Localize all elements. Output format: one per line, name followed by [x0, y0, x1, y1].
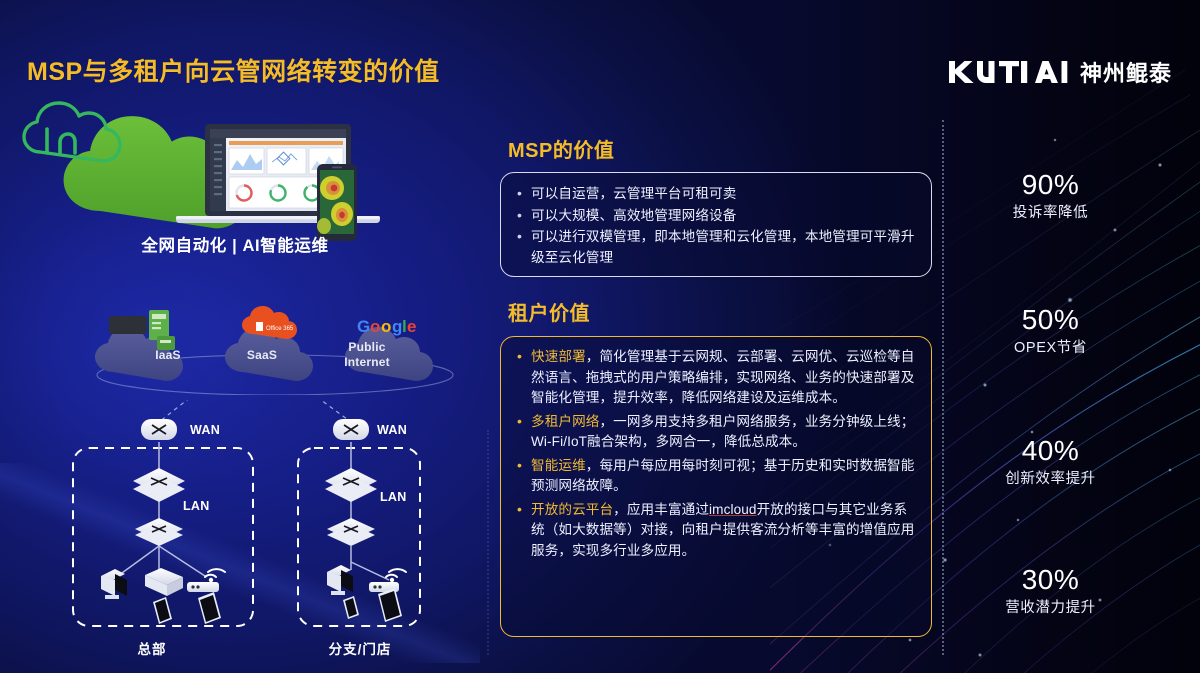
slide-root: MSP与多租户向云管网络转变的价值 神州鲲泰 [0, 0, 1200, 673]
tenant-text: ，简化管理基于云网规、云部署、云网优、云巡检等自然语言、拖拽式的用户策略编排，实… [531, 349, 914, 405]
msp-value-card: 可以自运营，云管理平台可租可卖 可以大规模、高效地管理网络设备 可以进行双模管理… [500, 172, 932, 277]
branch-lan-switch [327, 518, 375, 546]
stat-label: 创新效率提升 [953, 468, 1148, 490]
list-item: 可以大规模、高效地管理网络设备 [514, 206, 918, 227]
cloud-label-saas: SaaS [222, 348, 302, 362]
branch-wan-label: WAN [377, 423, 407, 437]
stat-value: 40% [953, 434, 1148, 468]
vertical-dotted-divider-secondary [487, 430, 489, 655]
hq-server [145, 568, 183, 596]
msp-bullet-list: 可以自运营，云管理平台可租可卖 可以大规模、高效地管理网络设备 可以进行双模管理… [501, 173, 931, 268]
branch-lan-label: LAN [380, 490, 407, 504]
cloud-label-iaas: IaaS [128, 348, 208, 362]
cloud-label-public: Public [327, 340, 407, 354]
tenant-heading: 租户价值 [508, 297, 590, 326]
hq-wan-router [141, 419, 177, 440]
stat-label: 营收潜力提升 [953, 597, 1148, 619]
vertical-dotted-divider [942, 120, 944, 655]
hq-access-point [187, 569, 225, 592]
hq-pc [101, 569, 127, 599]
page-title: MSP与多租户向云管网络转变的价值 [27, 52, 440, 88]
stat-value: 90% [953, 168, 1148, 202]
list-item: 多租户网络，一网多用支持多租户网络服务，业务分钟级上线；Wi-Fi/IoT融合架… [514, 412, 918, 453]
tenant-keyword: 开放的云平台 [531, 502, 613, 517]
tenant-keyword: 多租户网络 [531, 414, 599, 429]
svg-text:o: o [381, 317, 391, 336]
tenant-value-card: 快速部署，简化管理基于云网规、云部署、云网优、云巡检等自然语言、拖拽式的用户策略… [500, 336, 932, 637]
stat-block-4: 30% 营收潜力提升 [953, 563, 1148, 619]
branch-tablets [343, 588, 402, 622]
brand-logo: 神州鲲泰 [947, 56, 1172, 88]
tenant-text: ，每用户每应用每时刻可视；基于历史和实时数据智能预测网络故障。 [531, 458, 914, 494]
stat-block-2: 50% OPEX节省 [953, 303, 1148, 359]
list-item: 可以自运营，云管理平台可租可卖 [514, 184, 918, 205]
tenant-keyword: 智能运维 [531, 458, 586, 473]
brand-name-cn: 神州鲲泰 [1080, 56, 1172, 88]
list-item: 快速部署，简化管理基于云网规、云部署、云网优、云巡检等自然语言、拖拽式的用户策略… [514, 347, 918, 409]
imcloud-link[interactable]: imcloud [709, 502, 757, 517]
hq-wan-label: WAN [190, 423, 220, 437]
list-item: 开放的云平台，应用丰富通过imcloud开放的接口与其它业务系统（如大数据等）对… [514, 500, 918, 562]
tenant-text-a: ，应用丰富通过 [613, 502, 709, 517]
site-label-branch: 分支/门店 [290, 638, 430, 658]
branch-pc [327, 565, 353, 595]
cloud-saas: Office 365 [225, 306, 313, 381]
kuntai-wordmark-icon [947, 59, 1069, 85]
tenant-bullet-list: 快速部署，简化管理基于云网规、云部署、云网优、云巡检等自然语言、拖拽式的用户策略… [501, 337, 931, 561]
cloud-iaas [95, 310, 183, 381]
svg-text:o: o [370, 317, 380, 336]
hq-lan-label: LAN [183, 499, 210, 513]
svg-text:G: G [357, 317, 370, 336]
svg-text:e: e [407, 317, 416, 336]
site-label-hq: 总部 [92, 638, 212, 658]
stat-value: 50% [953, 303, 1148, 337]
list-item: 可以进行双模管理，即本地管理和云化管理，本地管理可平滑升级至云化管理 [514, 227, 918, 268]
network-topology-diagram [55, 400, 475, 665]
svg-text:g: g [392, 317, 402, 336]
msp-heading: MSP的价值 [508, 134, 614, 163]
hq-tablets [153, 592, 221, 624]
stat-block-3: 40% 创新效率提升 [953, 434, 1148, 490]
tenant-keyword: 快速部署 [531, 349, 586, 364]
stat-block-1: 90% 投诉率降低 [953, 168, 1148, 224]
stat-label: OPEX节省 [953, 337, 1148, 359]
cloud-label-internet: Internet [327, 355, 407, 369]
hq-lan-switch [135, 518, 183, 546]
hq-core-switch [133, 468, 185, 502]
phone-heatmap-device [317, 164, 357, 241]
branch-wan-router [333, 419, 369, 440]
illustration-caption: 全网自动化 | AI智能运维 [0, 232, 470, 256]
stat-value: 30% [953, 563, 1148, 597]
stat-label: 投诉率降低 [953, 202, 1148, 224]
svg-text:Office 365: Office 365 [266, 326, 294, 332]
branch-core-switch [325, 468, 377, 502]
list-item: 智能运维，每用户每应用每时刻可视；基于历史和实时数据智能预测网络故障。 [514, 456, 918, 497]
